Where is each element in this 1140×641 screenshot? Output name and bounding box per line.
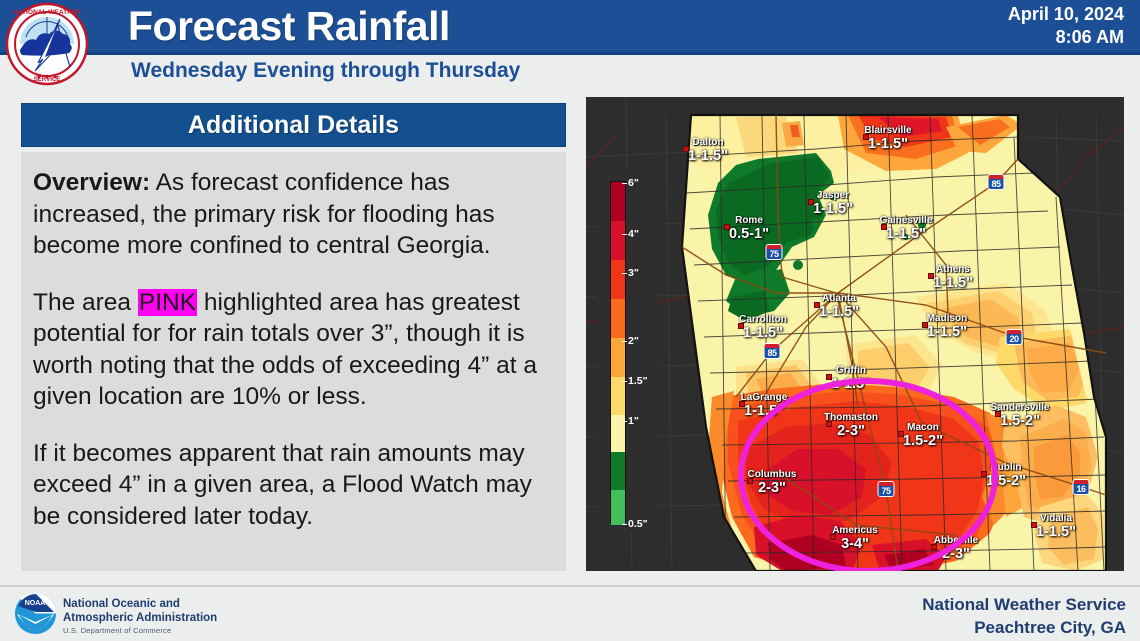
slide-root: NATIONAL WEATHER SERVICE ★ ★ ★ Forecast …	[0, 0, 1140, 641]
colorbar-tick-3: 3"	[628, 267, 639, 279]
city-label: Atlanta1-1.5"	[819, 293, 859, 320]
colorbar-tick-2: 2"	[628, 335, 639, 347]
city-name: Atlanta	[819, 293, 859, 304]
shield-route-number: 20	[1007, 334, 1022, 345]
city-name: Athens	[933, 264, 973, 275]
city-label: Rome0.5-1"	[729, 215, 769, 242]
interstate-shield-icon: 20	[1006, 329, 1023, 345]
city-label: Madison1-1.5"	[927, 313, 968, 340]
interstate-shield-icon: 16	[1073, 479, 1090, 495]
interstate-shield-icon: 85	[764, 343, 781, 359]
rainfall-map[interactable]: Storm Total Precipitation (in) 6" 4" 3" …	[586, 97, 1124, 571]
city-rainfall-value: 1-1.5"	[739, 325, 787, 341]
svg-text:NOAA: NOAA	[25, 600, 46, 607]
city-rainfall-value: 0.5-1"	[729, 226, 769, 242]
noaa-line-2: Atmospheric Administration	[63, 611, 217, 625]
city-rainfall-value: 1-1.5"	[813, 201, 853, 217]
colorbar-tick-1-5: 1.5"	[628, 375, 648, 387]
city-label: Dalton1-1.5"	[688, 137, 728, 164]
colorbar-panel	[597, 170, 659, 533]
city-rainfall-value: 1.5-2"	[991, 413, 1050, 429]
header-divider	[0, 52, 1140, 55]
pink-highlight: PINK	[138, 289, 197, 316]
page-subtitle: Wednesday Evening through Thursday	[131, 57, 520, 84]
city-rainfall-value: 1-1.5"	[933, 275, 973, 291]
additional-details-heading-text: Additional Details	[188, 111, 399, 140]
city-label: Gainesville1-1.5"	[880, 215, 933, 242]
issuance-date: April 10, 2024	[1008, 3, 1124, 26]
colorbar-tick-6: 6"	[628, 177, 639, 189]
footer-divider	[0, 585, 1140, 587]
flood-watch-paragraph: If it becomes apparent that rain amounts…	[33, 438, 553, 533]
pink-area-paragraph: The area PINK highlighted area has great…	[33, 287, 553, 413]
shield-route-number: 16	[1074, 484, 1089, 495]
additional-details-header: Additional Details	[21, 103, 566, 147]
city-rainfall-value: 1-1.5"	[864, 136, 911, 152]
nws-seal-icon: NATIONAL WEATHER SERVICE ★ ★ ★	[4, 1, 90, 87]
pink-highlight-ellipse	[738, 378, 998, 571]
shield-route-number: 85	[989, 179, 1004, 190]
city-rainfall-value: 1-1.5"	[927, 324, 968, 340]
city-label: Vidalia1-1.5"	[1036, 513, 1076, 540]
colorbar-tick-4: 4"	[628, 228, 639, 240]
colorbar-strip	[610, 181, 626, 523]
city-name: Carrollton	[739, 314, 787, 325]
city-rainfall-value: 1-1.5"	[880, 226, 933, 242]
city-name: Jasper	[813, 190, 853, 201]
city-rainfall-value: 1-1.5"	[688, 148, 728, 164]
overview-label: Overview:	[33, 169, 150, 196]
nws-office-line-2: Peachtree City, GA	[922, 616, 1126, 639]
noaa-line-1: National Oceanic and	[63, 597, 217, 611]
overview-paragraph: Overview: As forecast confidence has inc…	[33, 167, 553, 262]
additional-details-body: Overview: As forecast confidence has inc…	[21, 152, 566, 571]
interstate-shield-icon: 75	[766, 244, 783, 260]
city-name: Sandersville	[991, 402, 1050, 413]
city-label: Athens1-1.5"	[933, 264, 973, 291]
city-label: Carrollton1-1.5"	[739, 314, 787, 341]
noaa-agency-name: National Oceanic and Atmospheric Adminis…	[63, 597, 217, 625]
city-name: LaGrange	[741, 392, 788, 403]
shield-route-number: 75	[767, 249, 782, 260]
issuance-timestamp: April 10, 2024 8:06 AM	[1008, 3, 1124, 49]
page-title: Forecast Rainfall	[128, 2, 450, 50]
colorbar-tick-0-5: 0.5"	[628, 518, 648, 530]
city-label: Jasper1-1.5"	[813, 190, 853, 217]
city-name: Rome	[729, 215, 769, 226]
svg-text:★ ★ ★: ★ ★ ★	[36, 73, 59, 81]
city-label: Blairsville1-1.5"	[864, 125, 911, 152]
city-rainfall-value: 1-1.5"	[819, 304, 859, 320]
shield-route-number: 85	[765, 348, 780, 359]
nws-office-credit: National Weather Service Peachtree City,…	[922, 593, 1126, 639]
city-name: Vidalia	[1036, 513, 1076, 524]
colorbar-tick-1: 1"	[628, 415, 639, 427]
svg-text:NATIONAL WEATHER: NATIONAL WEATHER	[13, 9, 81, 16]
city-name: Dalton	[688, 137, 728, 148]
pink-area-text-pre: The area	[33, 289, 138, 316]
city-name: Gainesville	[880, 215, 933, 226]
noaa-department: U.S. Department of Commerce	[63, 626, 171, 635]
nws-office-line-1: National Weather Service	[922, 593, 1126, 616]
city-name: Blairsville	[864, 125, 911, 136]
noaa-seal-icon: NOAA	[14, 592, 57, 635]
interstate-shield-icon: 85	[988, 174, 1005, 190]
city-rainfall-value: 1-1.5"	[1036, 524, 1076, 540]
issuance-time: 8:06 AM	[1008, 26, 1124, 49]
city-label: Sandersville1.5-2"	[991, 402, 1050, 429]
city-name: Madison	[927, 313, 968, 324]
city-name: Griffin	[831, 365, 871, 376]
